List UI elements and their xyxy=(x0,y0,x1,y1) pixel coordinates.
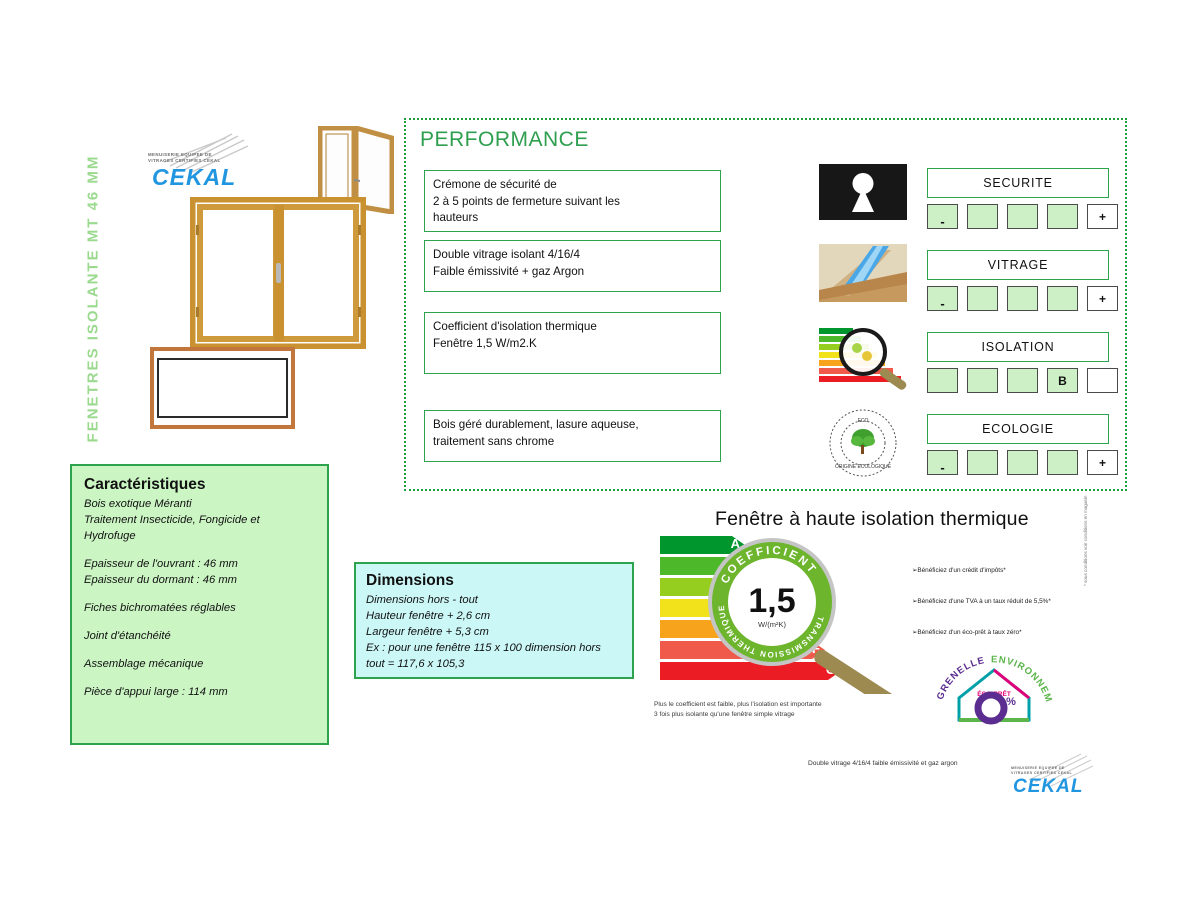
rating-text-securite: SECURITE xyxy=(983,176,1053,190)
carac-line-3: Hydrofuge xyxy=(84,528,315,544)
rating-cell-vitrage-2[interactable] xyxy=(967,286,998,311)
rating-cell-vitrage-1[interactable]: - xyxy=(927,286,958,311)
energy-caption-line1: Plus le coefficient est faible, plus l'i… xyxy=(654,700,822,710)
rating-label-isolation: ISOLATION xyxy=(927,332,1109,362)
rating-cell-isolation-1[interactable] xyxy=(927,368,958,393)
rating-scale-securite[interactable]: - + xyxy=(927,204,1118,229)
datasheet-page: FENETRES ISOLANTE MT 46 MM MENUISERIE EQ… xyxy=(0,0,1202,901)
perf-cremone-line2: 2 à 5 points de fermeture suivant les xyxy=(433,194,712,211)
window-transom-image xyxy=(150,347,295,429)
cekal-logo-footer-subtitle: MENUISERIE EQUIPEE DE VITRAGES CERTIFIES… xyxy=(1011,766,1072,776)
rating-cell-isolation-5[interactable] xyxy=(1087,368,1118,393)
rating-cell-securite-5[interactable]: + xyxy=(1087,204,1118,229)
rating-label-vitrage: VITRAGE xyxy=(927,250,1109,280)
energy-caption-line2: 3 fois plus isolante qu'une fenêtre simp… xyxy=(654,710,822,720)
rating-cell-securite-2[interactable] xyxy=(967,204,998,229)
perf-box-coefficient: Coefficient d'isolation thermique Fenêtr… xyxy=(424,312,721,374)
magnifier-graphic: COEFFICIENT TRANSMISSION THERMIQUE 1,5 W… xyxy=(704,534,924,694)
rating-label-ecologie: ECOLOGIE xyxy=(927,414,1109,444)
performance-panel: PERFORMANCE Crémone de sécurité de 2 à 5… xyxy=(404,118,1127,491)
cekal-logo-footer: MENUISERIE EQUIPEE DE VITRAGES CERTIFIES… xyxy=(1005,752,1095,802)
perf-box-bois: Bois géré durablement, lasure aqueuse, t… xyxy=(424,410,721,462)
grenelle-environnement-logo: ÉCO-PRÊT % GRENELLE ENVIRONNEMENT ENGAGE… xyxy=(933,648,1055,732)
energy-magnifier-icon xyxy=(819,326,911,390)
cekal-logo-wordmark: CEKAL xyxy=(152,164,236,191)
page-side-title: FENETRES ISOLANTE MT 46 MM xyxy=(85,129,102,469)
carac-line-1: Bois exotique Méranti xyxy=(84,496,315,512)
coefficient-value: 1,5 xyxy=(748,582,795,620)
grenelle-bottom-text: ENGAGEMENTS xyxy=(954,731,1033,732)
cekal-logo: MENUISERIE EQUIPEE DE VITRAGES CERTIFIES… xyxy=(140,132,250,194)
perf-cremone-line3: hauteurs xyxy=(433,210,712,227)
caracteristiques-panel: Caractéristiques Bois exotique Méranti T… xyxy=(70,464,329,745)
rating-cell-securite-3[interactable] xyxy=(1007,204,1038,229)
rating-cell-ecologie-5[interactable]: + xyxy=(1087,450,1118,475)
eco-stamp-icon: ECO ORIGINE ECOLOGIQUE xyxy=(819,408,907,478)
rating-label-securite: SECURITE xyxy=(927,168,1109,198)
dimensions-panel: Dimensions Dimensions hors - tout Hauteu… xyxy=(354,562,634,679)
carac-line-4: Epaisseur de l'ouvrant : 46 mm xyxy=(84,556,315,572)
dimensions-line-2: Hauteur fenêtre + 2,6 cm xyxy=(366,608,622,624)
perf-vitrage-line2: Faible émissivité + gaz Argon xyxy=(433,264,712,281)
rating-cell-securite-4[interactable] xyxy=(1047,204,1078,229)
coefficient-magnifier: COEFFICIENT TRANSMISSION THERMIQUE 1,5 W… xyxy=(710,540,834,664)
performance-title: PERFORMANCE xyxy=(420,128,589,152)
carac-line-2: Traitement Insecticide, Fongicide et xyxy=(84,512,315,528)
rating-cell-isolation-2[interactable] xyxy=(967,368,998,393)
eco-stamp-top-text: ECO xyxy=(858,418,869,424)
benefits-footnote: * sous conditions voir conditions en mag… xyxy=(1083,496,1088,586)
rating-cell-vitrage-4[interactable] xyxy=(1047,286,1078,311)
rating-cell-vitrage-5[interactable]: + xyxy=(1087,286,1118,311)
cekal-logo-subtitle: MENUISERIE EQUIPEE DE VITRAGES CERTIFIES… xyxy=(148,152,221,164)
coefficient-unit: W/(m²K) xyxy=(758,620,786,629)
perf-coefficient-line1: Coefficient d'isolation thermique xyxy=(433,319,712,336)
rating-cell-ecologie-1[interactable]: - xyxy=(927,450,958,475)
perf-box-vitrage: Double vitrage isolant 4/16/4 Faible émi… xyxy=(424,240,721,292)
dimensions-line-1: Dimensions hors - tout xyxy=(366,592,622,608)
bottom-glazing-note: Double vitrage 4/16/4 faible émissivité … xyxy=(808,760,958,767)
rating-cell-ecologie-2[interactable] xyxy=(967,450,998,475)
dimensions-line-3: Largeur fenêtre + 5,3 cm xyxy=(366,624,622,640)
rating-text-ecologie: ECOLOGIE xyxy=(982,422,1054,436)
benefit-item-credit-impots: ➢Bénéficiez d'un crédit d'impôts* xyxy=(912,566,1051,575)
cekal-logo-footer-wordmark: CEKAL xyxy=(1013,776,1083,798)
dimensions-title: Dimensions xyxy=(366,572,622,590)
energy-chart-caption: Plus le coefficient est faible, plus l'i… xyxy=(654,700,822,719)
rating-scale-ecologie[interactable]: - + xyxy=(927,450,1118,475)
rating-cell-vitrage-3[interactable] xyxy=(1007,286,1038,311)
grenelle-percent: % xyxy=(1006,696,1016,708)
rating-text-isolation: ISOLATION xyxy=(982,340,1055,354)
keyhole-icon xyxy=(819,164,907,220)
caracteristiques-title: Caractéristiques xyxy=(84,476,315,494)
promo-title: Fenêtre à haute isolation thermique xyxy=(715,508,1029,531)
rating-cell-ecologie-4[interactable] xyxy=(1047,450,1078,475)
rating-cell-ecologie-3[interactable] xyxy=(1007,450,1038,475)
window-glass-icon xyxy=(819,244,907,302)
perf-box-cremone: Crémone de sécurité de 2 à 5 points de f… xyxy=(424,170,721,232)
rating-scale-isolation[interactable]: B xyxy=(927,368,1118,393)
benefits-list: ➢Bénéficiez d'un crédit d'impôts* ➢Bénéf… xyxy=(912,566,1051,659)
carac-line-9: Pièce d'appui large : 114 mm xyxy=(84,684,315,700)
perf-bois-line2: traitement sans chrome xyxy=(433,434,712,451)
rating-cell-securite-1[interactable]: - xyxy=(927,204,958,229)
perf-vitrage-line1: Double vitrage isolant 4/16/4 xyxy=(433,247,712,264)
perf-coefficient-line2: Fenêtre 1,5 W/m2.K xyxy=(433,336,712,353)
carac-line-8: Assemblage mécanique xyxy=(84,656,315,672)
benefit-item-tva-reduite: ➢Bénéficiez d'une TVA à un taux réduit d… xyxy=(912,597,1051,606)
rating-text-vitrage: VITRAGE xyxy=(988,258,1048,272)
rating-scale-vitrage[interactable]: - + xyxy=(927,286,1118,311)
perf-bois-line1: Bois géré durablement, lasure aqueuse, xyxy=(433,417,712,434)
carac-line-6: Fiches bichromatées réglables xyxy=(84,600,315,616)
carac-line-5: Epaisseur du dormant : 46 mm xyxy=(84,572,315,588)
perf-cremone-line1: Crémone de sécurité de xyxy=(433,177,712,194)
benefit-item-eco-pret: ➢Bénéficiez d'un éco-prêt à taux zéro* xyxy=(912,628,1051,637)
eco-stamp-bottom-text: ORIGINE ECOLOGIQUE xyxy=(835,464,892,470)
rating-cell-isolation-4[interactable]: B xyxy=(1047,368,1078,393)
rating-cell-isolation-3[interactable] xyxy=(1007,368,1038,393)
window-double-casement-image xyxy=(190,197,366,349)
carac-line-7: Joint d'étanchéité xyxy=(84,628,315,644)
dimensions-line-5: tout = 117,6 x 105,3 xyxy=(366,656,622,672)
dimensions-line-4: Ex : pour une fenêtre 115 x 100 dimensio… xyxy=(366,640,622,656)
